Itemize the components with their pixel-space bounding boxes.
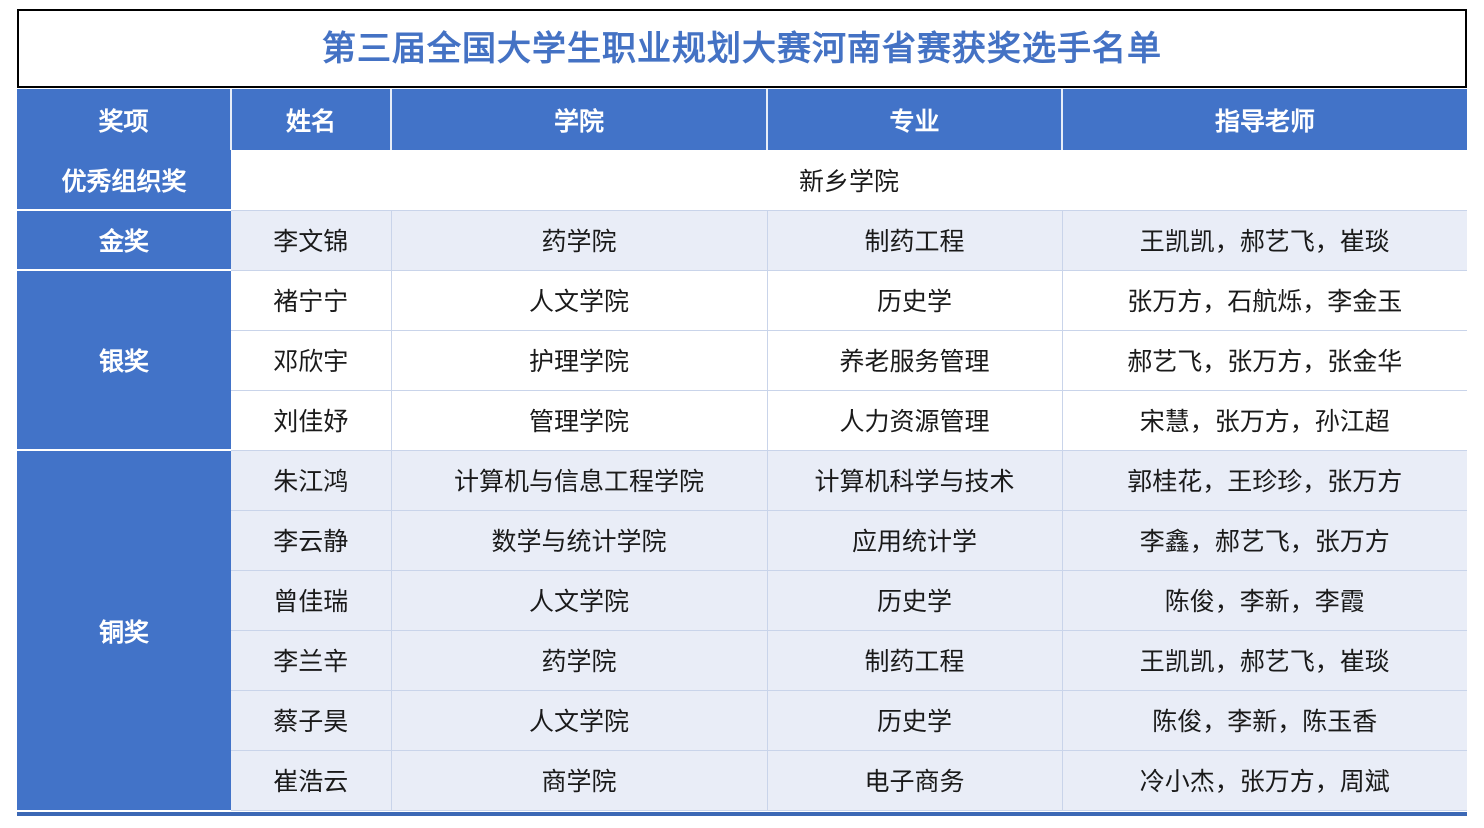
- cell-major: 计算机科学与技术: [767, 450, 1062, 510]
- table-body: 优秀组织奖新乡学院金奖李文锦药学院制药工程王凯凯，郝艺飞，崔琰银奖褚宁宁人文学院…: [17, 150, 1467, 810]
- merged-value-cell: 新乡学院: [231, 150, 1467, 210]
- cell-name: 蔡子昊: [231, 690, 391, 750]
- cell-major: 应用统计学: [767, 510, 1062, 570]
- cell-school: 商学院: [391, 750, 767, 810]
- table-row: 曾佳瑞人文学院历史学陈俊，李新，李霞: [17, 570, 1467, 630]
- cell-mentor: 李鑫，郝艺飞，张万方: [1062, 510, 1467, 570]
- award-label-3: 铜奖: [17, 450, 231, 810]
- column-header-major: 专业: [767, 89, 1062, 150]
- page-title-box: 第三届全国大学生职业规划大赛河南省赛获奖选手名单: [17, 9, 1467, 88]
- cell-major: 人力资源管理: [767, 390, 1062, 450]
- cell-school: 人文学院: [391, 270, 767, 330]
- cell-school: 护理学院: [391, 330, 767, 390]
- cell-name: 崔浩云: [231, 750, 391, 810]
- table-header-row: 奖项 姓名 学院 专业 指导老师: [17, 89, 1467, 150]
- cell-mentor: 郭桂花，王珍珍，张万方: [1062, 450, 1467, 510]
- award-label-2: 银奖: [17, 270, 231, 450]
- cell-name: 李云静: [231, 510, 391, 570]
- cell-name: 朱江鸿: [231, 450, 391, 510]
- cell-mentor: 冷小杰，张万方，周斌: [1062, 750, 1467, 810]
- table-row: 优秀组织奖新乡学院: [17, 150, 1467, 210]
- award-list-page: 第三届全国大学生职业规划大赛河南省赛获奖选手名单 奖项 姓名 学院 专业 指导老…: [0, 0, 1484, 828]
- cell-major: 历史学: [767, 270, 1062, 330]
- cell-major: 制药工程: [767, 210, 1062, 270]
- table-row: 金奖李文锦药学院制药工程王凯凯，郝艺飞，崔琰: [17, 210, 1467, 270]
- cell-school: 人文学院: [391, 570, 767, 630]
- column-header-name: 姓名: [231, 89, 391, 150]
- table-header: 奖项 姓名 学院 专业 指导老师: [17, 89, 1467, 150]
- table-row: 铜奖朱江鸿计算机与信息工程学院计算机科学与技术郭桂花，王珍珍，张万方: [17, 450, 1467, 510]
- cell-name: 褚宁宁: [231, 270, 391, 330]
- table-row: 李云静数学与统计学院应用统计学李鑫，郝艺飞，张万方: [17, 510, 1467, 570]
- cell-school: 数学与统计学院: [391, 510, 767, 570]
- cell-name: 邓欣宇: [231, 330, 391, 390]
- table-row: 刘佳妤管理学院人力资源管理宋慧，张万方，孙江超: [17, 390, 1467, 450]
- column-header-award: 奖项: [17, 89, 231, 150]
- cell-major: 历史学: [767, 570, 1062, 630]
- cell-school: 药学院: [391, 210, 767, 270]
- cell-name: 曾佳瑞: [231, 570, 391, 630]
- table-row: 蔡子昊人文学院历史学陈俊，李新，陈玉香: [17, 690, 1467, 750]
- cell-major: 历史学: [767, 690, 1062, 750]
- award-table-container: 奖项 姓名 学院 专业 指导老师 优秀组织奖新乡学院金奖李文锦药学院制药工程王凯…: [17, 89, 1467, 816]
- cell-mentor: 王凯凯，郝艺飞，崔琰: [1062, 630, 1467, 690]
- table-row: 李兰辛药学院制药工程王凯凯，郝艺飞，崔琰: [17, 630, 1467, 690]
- cell-school: 药学院: [391, 630, 767, 690]
- cell-school: 计算机与信息工程学院: [391, 450, 767, 510]
- cell-name: 李文锦: [231, 210, 391, 270]
- column-header-mentor: 指导老师: [1062, 89, 1467, 150]
- award-label-1: 金奖: [17, 210, 231, 270]
- award-table: 奖项 姓名 学院 专业 指导老师 优秀组织奖新乡学院金奖李文锦药学院制药工程王凯…: [17, 89, 1467, 811]
- cell-major: 制药工程: [767, 630, 1062, 690]
- cell-mentor: 郝艺飞，张万方，张金华: [1062, 330, 1467, 390]
- cell-mentor: 陈俊，李新，李霞: [1062, 570, 1467, 630]
- cell-mentor: 陈俊，李新，陈玉香: [1062, 690, 1467, 750]
- cell-school: 人文学院: [391, 690, 767, 750]
- page-title: 第三届全国大学生职业规划大赛河南省赛获奖选手名单: [322, 32, 1162, 66]
- cell-mentor: 王凯凯，郝艺飞，崔琰: [1062, 210, 1467, 270]
- cell-name: 李兰辛: [231, 630, 391, 690]
- column-header-school: 学院: [391, 89, 767, 150]
- table-row: 银奖褚宁宁人文学院历史学张万方，石航烁，李金玉: [17, 270, 1467, 330]
- cell-name: 刘佳妤: [231, 390, 391, 450]
- cell-mentor: 宋慧，张万方，孙江超: [1062, 390, 1467, 450]
- cell-major: 电子商务: [767, 750, 1062, 810]
- cell-mentor: 张万方，石航烁，李金玉: [1062, 270, 1467, 330]
- award-label-0: 优秀组织奖: [17, 150, 231, 210]
- cell-school: 管理学院: [391, 390, 767, 450]
- table-row: 崔浩云商学院电子商务冷小杰，张万方，周斌: [17, 750, 1467, 810]
- table-row: 邓欣宇护理学院养老服务管理郝艺飞，张万方，张金华: [17, 330, 1467, 390]
- cell-major: 养老服务管理: [767, 330, 1062, 390]
